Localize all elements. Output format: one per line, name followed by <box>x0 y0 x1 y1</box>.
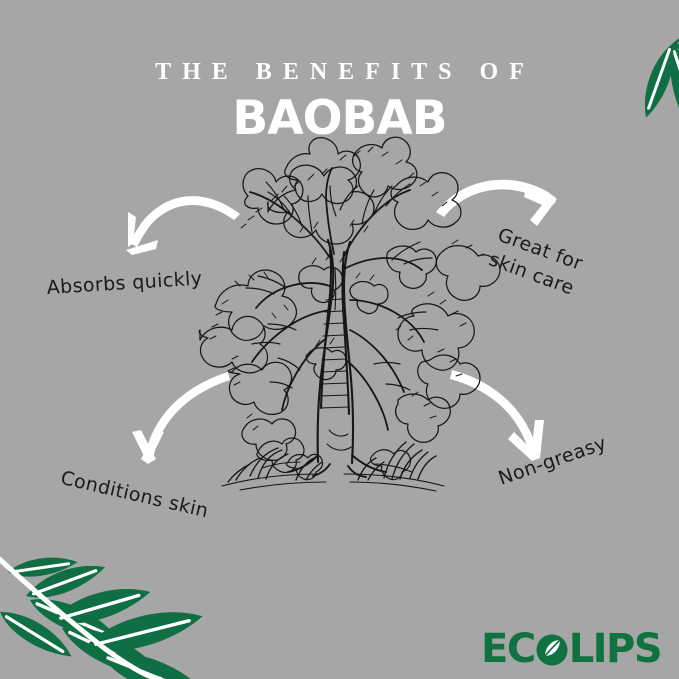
leaf-in-circle-icon <box>534 629 570 669</box>
page-title: BAOBAB <box>0 93 679 145</box>
logo-text-after-o: LIPS <box>569 629 662 669</box>
poster-canvas: THE BENEFITS OF BAOBAB Absorbs quickly G… <box>0 0 679 679</box>
ecolips-logo: EC LIPS <box>481 629 661 669</box>
logo-text-before-o: EC <box>481 629 535 669</box>
title-block: THE BENEFITS OF BAOBAB <box>0 57 679 145</box>
eyebrow-title: THE BENEFITS OF <box>0 57 679 87</box>
